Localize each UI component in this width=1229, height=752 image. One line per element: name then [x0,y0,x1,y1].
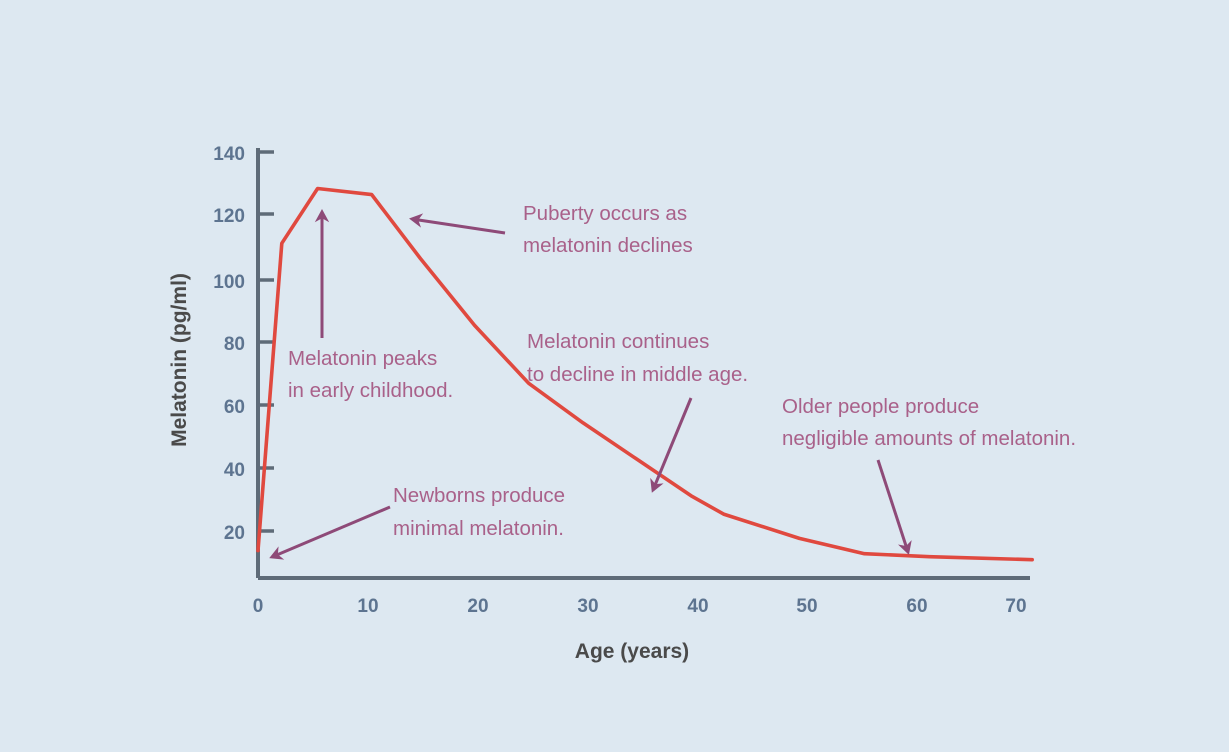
x-axis-title: Age (years) [575,640,689,663]
x-tick-label-0: 0 [253,596,264,617]
annotation-peak-line-1: Melatonin peaks [288,347,437,370]
x-tick-label-60: 60 [906,596,927,617]
y-axis-title: Melatonin (pg/ml) [168,273,191,447]
y-tick-label-120: 120 [213,206,245,227]
annotation-older-people-line-2: negligible amounts of melatonin. [782,427,1076,450]
melatonin-age-chart: 140 120 100 80 60 40 20 0 10 20 30 40 50… [0,0,1229,752]
x-tick-label-20: 20 [467,596,488,617]
annotation-puberty-line-2: melatonin declines [523,234,693,257]
annotation-middle-age-line-1: Melatonin continues [527,330,709,353]
y-tick-label-140: 140 [213,144,245,165]
x-tick-label-50: 50 [796,596,817,617]
y-tick-label-100: 100 [213,272,245,293]
annotation-middle-age-line-2: to decline in middle age. [527,363,748,386]
x-tick-label-40: 40 [687,596,708,617]
x-tick-label-30: 30 [577,596,598,617]
y-tick-label-40: 40 [224,460,245,481]
annotation-older-people-line-1: Older people produce [782,395,979,418]
x-tick-label-70: 70 [1005,596,1026,617]
annotation-newborns-line-2: minimal melatonin. [393,517,564,540]
chart-canvas: 140 120 100 80 60 40 20 0 10 20 30 40 50… [0,0,1229,752]
x-tick-label-10: 10 [357,596,378,617]
y-tick-label-20: 20 [224,523,245,544]
y-tick-label-60: 60 [224,397,245,418]
annotation-peak-line-2: in early childhood. [288,379,453,402]
annotation-puberty-line-1: Puberty occurs as [523,202,687,225]
y-tick-label-80: 80 [224,334,245,355]
annotation-newborns-line-1: Newborns produce [393,484,565,507]
